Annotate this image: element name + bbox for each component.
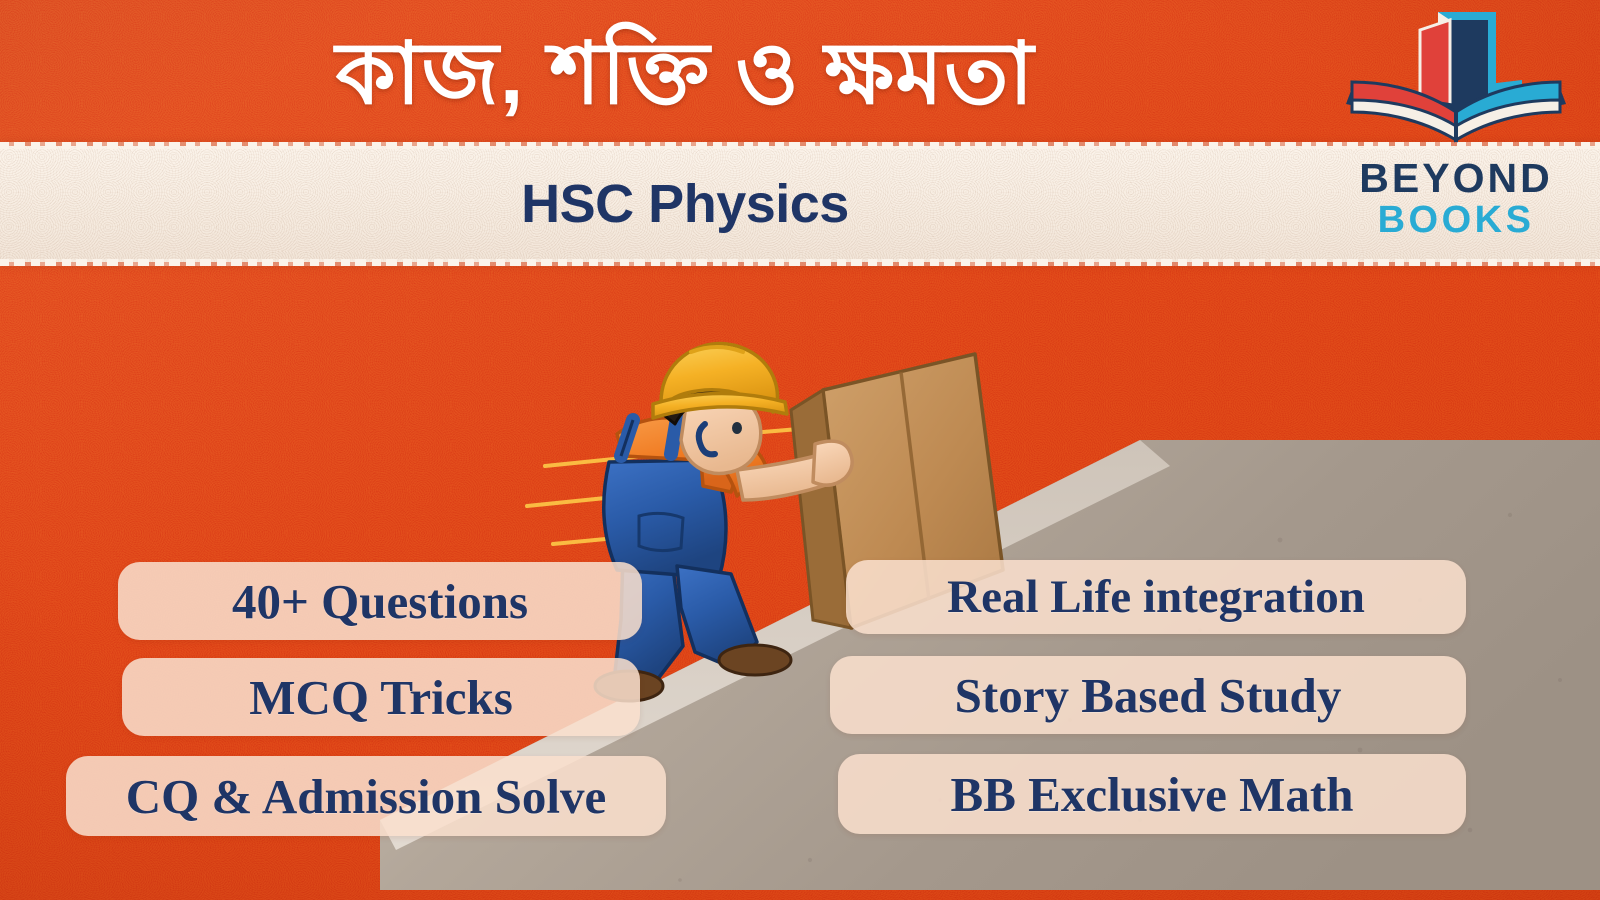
feature-pill-right-1[interactable]: Real Life integration (846, 560, 1466, 634)
feature-pill-right-2[interactable]: Story Based Study (830, 656, 1466, 734)
logo-text-books: BOOKS (1378, 201, 1535, 239)
logo-wordmark: BEYOND BOOKS (1336, 158, 1576, 239)
page-title-bengali: কাজ, শক্তি ও ক্ষমতা (336, 31, 1265, 117)
feature-pill-left-3[interactable]: CQ & Admission Solve (66, 756, 666, 836)
open-book-with-door-icon (1346, 8, 1566, 154)
brand-logo[interactable]: BEYOND BOOKS (1336, 8, 1576, 254)
poster-canvas: কাজ, শক্তি ও ক্ষমতা HSC Physics (0, 0, 1600, 900)
feature-pill-left-2[interactable]: MCQ Tricks (122, 658, 640, 736)
feature-pill-left-1[interactable]: 40+ Questions (118, 562, 642, 640)
feature-pill-right-3[interactable]: BB Exclusive Math (838, 754, 1466, 834)
logo-text-beyond: BEYOND (1359, 158, 1552, 199)
